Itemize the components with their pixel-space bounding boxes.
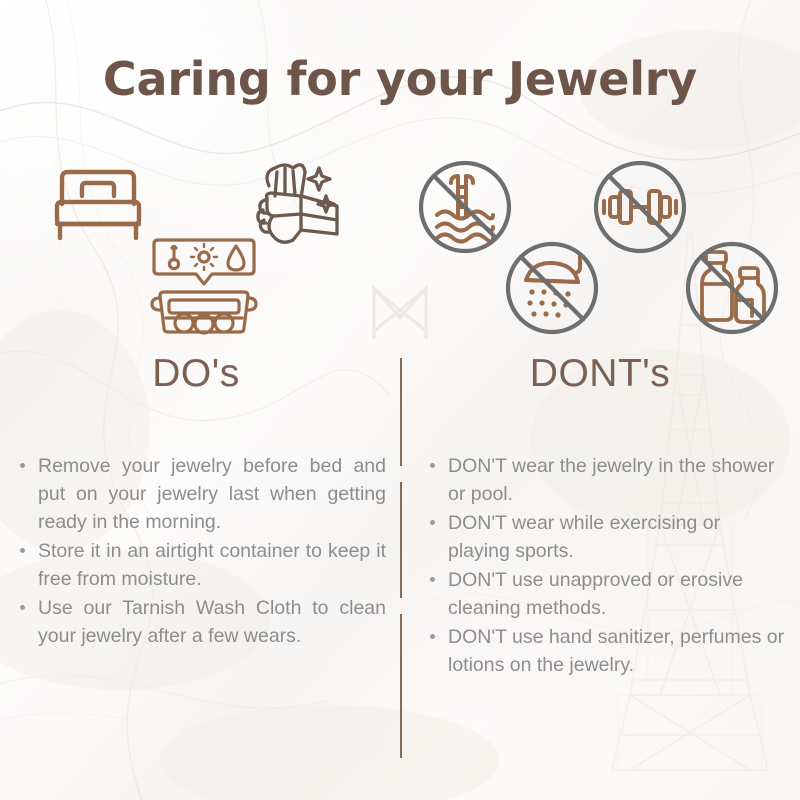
list-item-text: Remove your jewelry before bed and put o… bbox=[38, 455, 386, 533]
donts-heading: DONT's bbox=[410, 352, 790, 396]
list-item-text: DON'T wear while exercising or playing s… bbox=[448, 512, 720, 562]
list-item: DON'T wear while exercising or playing s… bbox=[424, 509, 786, 565]
page-title: Caring for your Jewelry bbox=[0, 52, 800, 106]
column-divider bbox=[400, 358, 402, 758]
list-item-text: Use our Tarnish Wash Cloth to clean your… bbox=[38, 597, 386, 647]
list-item-text: DON'T use hand sanitizer, perfumes or lo… bbox=[448, 626, 784, 676]
list-item: Remove your jewelry before bed and put o… bbox=[14, 452, 386, 536]
dos-bullet-list: Remove your jewelry before bed and put o… bbox=[14, 452, 386, 651]
list-item-text: DON'T wear the jewelry in the shower or … bbox=[448, 455, 774, 505]
jewelry-care-poster: Caring for your Jewelry bbox=[0, 0, 800, 800]
airtight-container-icon bbox=[148, 236, 260, 336]
dos-heading: DO's bbox=[0, 352, 392, 396]
list-item-text: DON'T use unapproved or erosive cleaning… bbox=[448, 569, 743, 619]
no-dumbbell-icon bbox=[590, 157, 690, 257]
list-item: DON'T use unapproved or erosive cleaning… bbox=[424, 566, 786, 622]
list-item: DON'T wear the jewelry in the shower or … bbox=[424, 452, 786, 508]
list-item: Use our Tarnish Wash Cloth to clean your… bbox=[14, 594, 386, 650]
no-shower-icon bbox=[502, 238, 602, 338]
no-swimming-icon bbox=[415, 157, 515, 257]
bed-icon bbox=[48, 164, 148, 242]
list-item-text: Store it in an airtight container to kee… bbox=[38, 540, 386, 590]
donts-bullet-list: DON'T wear the jewelry in the shower or … bbox=[424, 452, 786, 680]
donts-icon-group bbox=[410, 150, 790, 350]
polishing-cloth-icon bbox=[245, 158, 347, 254]
no-bottles-icon bbox=[682, 238, 782, 338]
list-item: Store it in an airtight container to kee… bbox=[14, 537, 386, 593]
list-item: DON'T use hand sanitizer, perfumes or lo… bbox=[424, 623, 786, 679]
dos-icon-group bbox=[20, 150, 380, 350]
